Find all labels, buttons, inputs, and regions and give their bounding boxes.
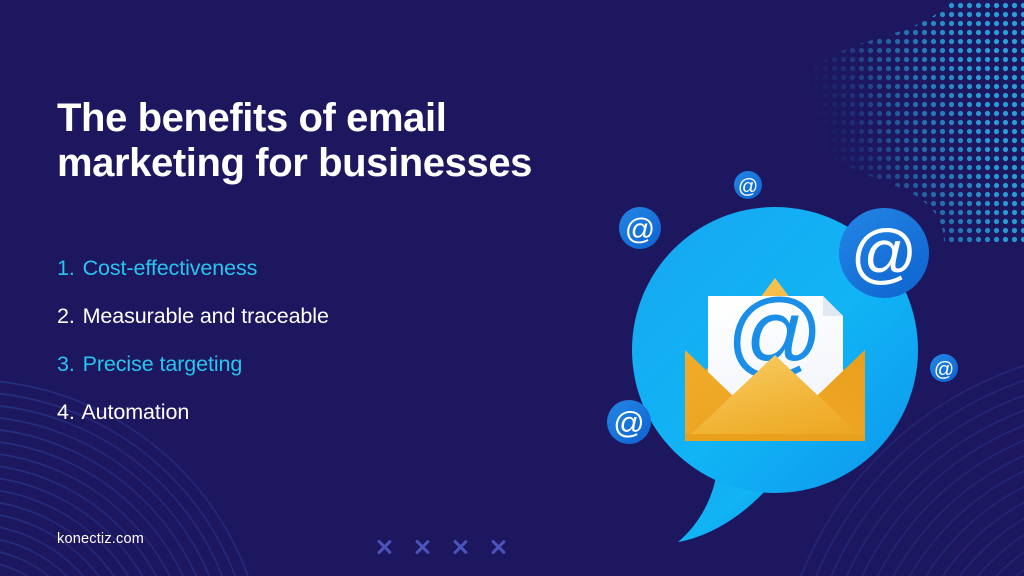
svg-text:@: @ [738,176,758,198]
list-item-number: 1. [57,256,75,280]
x-mark-icon [489,538,507,556]
list-item-label: Precise targeting [83,352,243,376]
at-badge: @ [607,400,651,444]
x-mark-icon [375,538,393,556]
svg-text:@: @ [934,359,954,381]
svg-text:@: @ [851,216,918,290]
list-item-number: 3. [57,352,75,376]
x-mark-icon [451,538,469,556]
list-item-label: Cost-effectiveness [83,256,258,280]
svg-text:@: @ [613,405,644,440]
list-item: 4. Automation [57,402,577,450]
x-mark-icon [413,538,431,556]
list-item-label: Automation [81,400,189,424]
list-item: 2. Measurable and traceable [57,306,577,354]
at-badge: @ [734,171,762,199]
x-mark-row [375,538,507,556]
benefits-list: 1. Cost-effectiveness 2. Measurable and … [57,258,577,450]
email-illustration: @ @ @ @ @ @ [590,150,990,550]
site-url-label: konectiz.com [57,531,144,547]
page-title: The benefits of email marketing for busi… [57,96,617,186]
at-badge: @ [930,354,958,382]
at-badge: @ [619,207,661,249]
headline-line-1: The benefits of email [57,96,446,140]
list-item: 1. Cost-effectiveness [57,258,577,306]
list-item-label: Measurable and traceable [83,304,329,328]
headline-line-2: marketing for businesses [57,141,532,185]
list-item: 3. Precise targeting [57,354,577,402]
at-badge: @ [839,208,929,298]
slide-canvas: The benefits of email marketing for busi… [0,0,1024,576]
svg-text:@: @ [625,213,655,246]
list-item-number: 2. [57,304,75,328]
list-item-number: 4. [57,400,75,424]
